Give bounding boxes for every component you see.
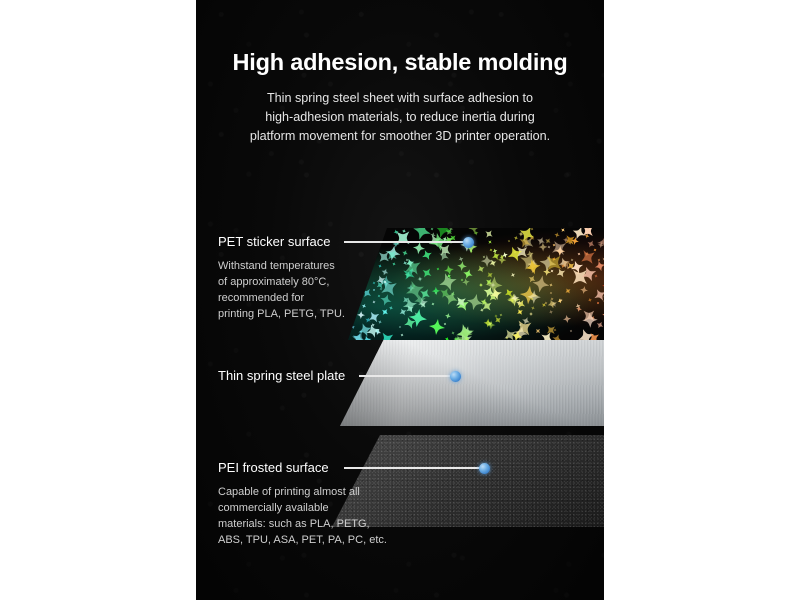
product-feature-panel: High adhesion, stable molding Thin sprin… — [196, 0, 604, 600]
sparkle-star — [587, 298, 592, 303]
callout-thin-spring-steel-plate: Thin spring steel plate — [218, 368, 345, 384]
subtitle-line: platform movement for smoother 3D printe… — [196, 127, 604, 146]
leader-line — [359, 375, 451, 377]
sparkle-star — [357, 311, 365, 319]
sparkle-star — [487, 321, 496, 330]
callout-label: Thin spring steel plate — [218, 368, 345, 384]
marker-dot-pei — [479, 463, 490, 474]
sparkle-star — [393, 229, 399, 235]
callout-description: Capable of printing almost all commercia… — [218, 484, 387, 548]
sparkle-star — [457, 260, 468, 271]
callout-description-line: commercially available — [218, 500, 387, 516]
page-subtitle: Thin spring steel sheet with surface adh… — [196, 89, 604, 146]
sparkle-star — [397, 324, 401, 328]
sparkle-star — [596, 232, 604, 252]
sparkle-star — [444, 336, 450, 340]
subtitle-line: high-adhesion materials, to reduce inert… — [196, 108, 604, 127]
sparkle-star — [562, 314, 571, 323]
sparkle-star — [461, 278, 464, 281]
sparkle-star — [527, 290, 541, 304]
sparkle-star — [529, 312, 533, 316]
sparkle-star — [407, 307, 428, 328]
sparkle-star — [562, 237, 569, 244]
sparkle-star — [530, 297, 533, 300]
sparkle-star — [494, 314, 498, 318]
callout-description: Withstand temperatures of approximately … — [218, 258, 345, 322]
callout-description-line: of approximately 80°C, — [218, 274, 345, 290]
leader-thin-spring-steel-plate — [359, 370, 461, 382]
leader-line — [344, 467, 480, 469]
spring-steel-plate-layer — [340, 340, 604, 426]
sparkle-star — [448, 228, 453, 231]
page-title: High adhesion, stable molding — [196, 48, 604, 76]
callout-pet-sticker-surface: PET sticker surface Withstand temperatur… — [218, 234, 345, 322]
leader-line — [344, 241, 464, 243]
sparkle-star — [479, 283, 483, 287]
callout-label: PET sticker surface — [218, 234, 345, 250]
sparkle-star — [428, 318, 446, 336]
subtitle-line: Thin spring steel sheet with surface adh… — [196, 89, 604, 108]
callout-description-line: ABS, TPU, ASA, PET, PA, PC, etc. — [218, 532, 387, 548]
marker-dot-steel — [450, 371, 461, 382]
callout-description-line: materials: such as PLA, PETG, — [218, 516, 387, 532]
sparkle-star — [530, 305, 535, 310]
metal-shadow — [340, 340, 604, 426]
callout-description-line: Capable of printing almost all — [218, 484, 387, 500]
leader-pet-sticker-surface — [344, 236, 474, 248]
sparkle-star — [579, 286, 588, 295]
callout-description-line: recommended for — [218, 290, 345, 306]
sparkle-star — [511, 294, 520, 303]
callout-description-line: printing PLA, PETG, TPU. — [218, 306, 345, 322]
sparkle-star — [402, 229, 406, 233]
sparkle-star — [513, 235, 518, 240]
header-block: High adhesion, stable molding Thin sprin… — [196, 48, 604, 146]
leader-pei-frosted-surface — [344, 462, 490, 474]
sparkle-star — [525, 249, 534, 258]
marker-dot-pet — [463, 237, 474, 248]
callout-description-line: Withstand temperatures — [218, 258, 345, 274]
